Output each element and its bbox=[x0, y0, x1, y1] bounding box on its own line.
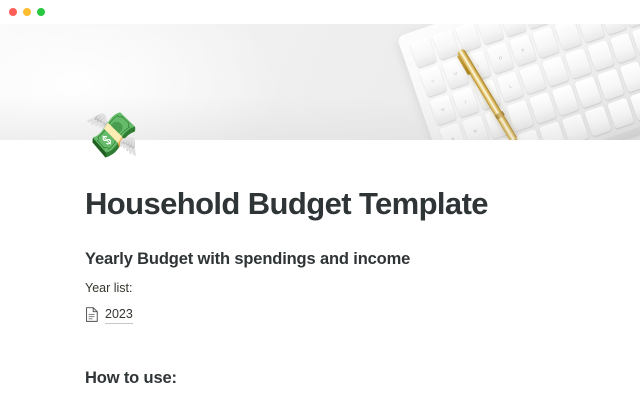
subtitle-heading[interactable]: Yearly Budget with spendings and income bbox=[85, 223, 580, 270]
keyboard-key: M bbox=[462, 115, 489, 140]
keyboard-key bbox=[477, 24, 504, 45]
keyboard-key bbox=[597, 69, 624, 100]
keyboard-keys: Y U I O P H J K L bbox=[409, 24, 640, 140]
year-list-label: Year list: bbox=[85, 270, 580, 298]
keyboard-key: O bbox=[487, 42, 514, 73]
close-window-button[interactable] bbox=[9, 8, 17, 16]
keyboard-key bbox=[577, 24, 604, 43]
keyboard-key bbox=[432, 29, 459, 60]
page-title[interactable]: Household Budget Template bbox=[85, 140, 580, 223]
keyboard-illustration: Y U I O P H J K L bbox=[397, 24, 640, 140]
keyboard-key: L bbox=[497, 71, 524, 102]
money-with-wings-icon[interactable]: 💸 bbox=[84, 108, 140, 164]
keyboard-key bbox=[609, 32, 636, 63]
minimize-window-button[interactable] bbox=[23, 8, 31, 16]
maximize-window-button[interactable] bbox=[37, 8, 45, 16]
keyboard-key bbox=[454, 24, 481, 53]
keyboard-key: J bbox=[452, 86, 479, 117]
title-bar bbox=[0, 0, 640, 24]
keyboard-key bbox=[574, 76, 601, 107]
keyboard-key bbox=[564, 48, 591, 79]
year-page-link[interactable]: 2023 bbox=[85, 298, 580, 324]
cover-highlight bbox=[0, 24, 290, 140]
keyboard-key bbox=[552, 84, 579, 115]
document-icon bbox=[85, 307, 99, 322]
keyboard-key bbox=[529, 92, 556, 123]
how-to-use-heading[interactable]: How to use: bbox=[85, 324, 580, 389]
keyboard-key bbox=[519, 63, 546, 94]
keyboard-key bbox=[562, 113, 589, 140]
app-window: Y U I O P H J K L bbox=[0, 0, 640, 400]
traffic-light-group bbox=[9, 8, 45, 16]
keyboard-key bbox=[554, 24, 581, 50]
keyboard-key bbox=[587, 40, 614, 71]
how-to-use-paragraph: You can see an example entry in the Expe… bbox=[85, 389, 580, 400]
keyboard-key bbox=[542, 55, 569, 86]
document-body: Household Budget Template Yearly Budget … bbox=[0, 140, 640, 400]
keyboard-key bbox=[619, 61, 640, 92]
keyboard-key: P bbox=[509, 34, 536, 65]
keyboard-key bbox=[532, 27, 559, 58]
year-page-link-label[interactable]: 2023 bbox=[105, 306, 133, 324]
